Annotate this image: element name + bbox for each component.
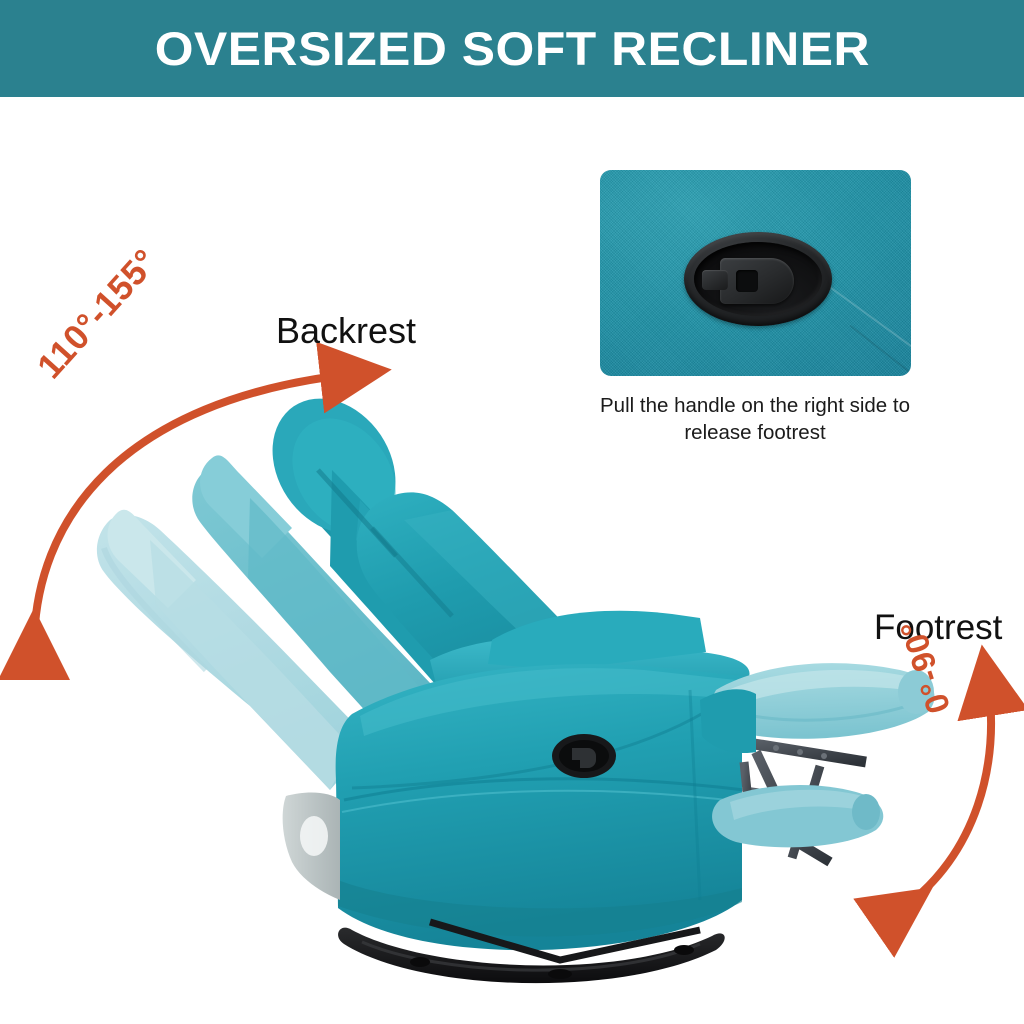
- handle-closeup-panel: [600, 170, 911, 376]
- recliner-illustration: [0, 0, 1024, 1024]
- backrest-label: Backrest: [276, 310, 416, 352]
- handle-recess: [694, 242, 822, 316]
- release-handle-icon: [684, 232, 832, 326]
- footrest-position-down: [712, 785, 883, 847]
- fabric-seam-secondary: [849, 325, 911, 376]
- handle-lever: [720, 258, 794, 304]
- release-handle-on-arm: [552, 734, 616, 778]
- handle-notch: [736, 270, 758, 292]
- fabric-seam: [817, 278, 911, 350]
- infographic-canvas: OVERSIZED SOFT RECLINER: [0, 0, 1024, 1024]
- handle-caption: Pull the handle on the right side to rel…: [580, 392, 930, 446]
